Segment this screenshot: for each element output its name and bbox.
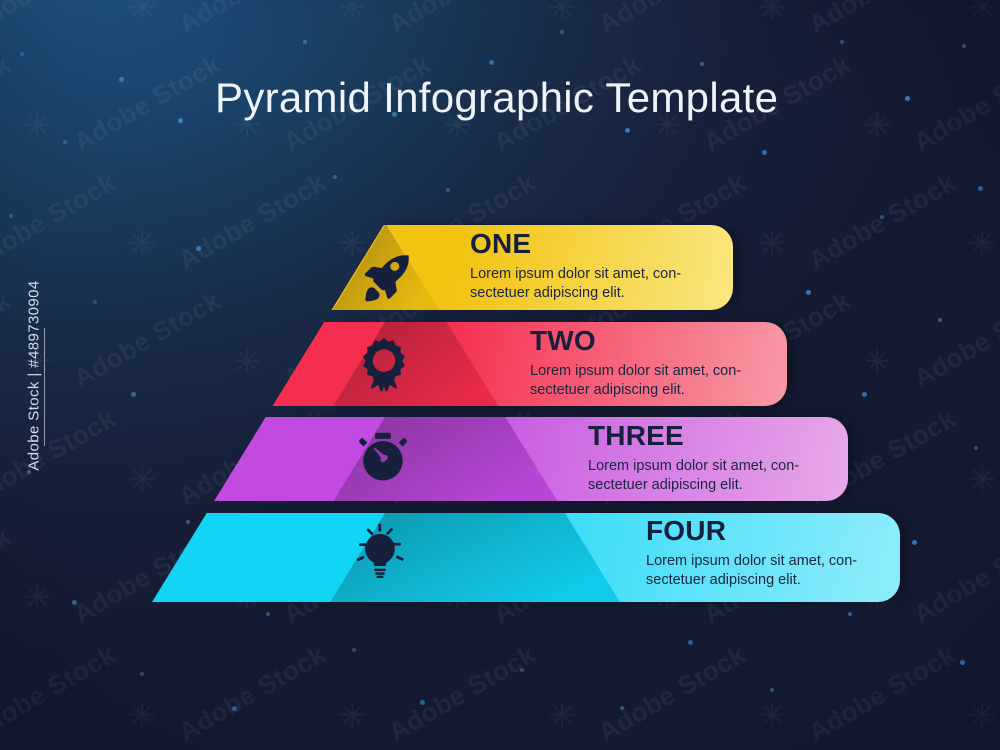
- level-description: Lorem ipsum dolor sit amet, con- sectetu…: [530, 362, 741, 400]
- level-description: Lorem ipsum dolor sit amet, con- sectetu…: [470, 265, 681, 303]
- level-label: ONELorem ipsum dolor sit amet, con- sect…: [470, 230, 681, 303]
- level-title: FOUR: [646, 517, 857, 545]
- level-label: THREELorem ipsum dolor sit amet, con- se…: [588, 422, 799, 495]
- level-triangle-slab: [0, 417, 1000, 501]
- stopwatch-icon: [355, 431, 411, 487]
- level-title: THREE: [588, 422, 799, 450]
- stock-id-divider: [44, 328, 45, 446]
- pyramid-level[interactable]: FOURLorem ipsum dolor sit amet, con- sec…: [0, 513, 1000, 602]
- level-description: Lorem ipsum dolor sit amet, con- sectetu…: [588, 457, 799, 495]
- level-label: TWOLorem ipsum dolor sit amet, con- sect…: [530, 327, 741, 400]
- rocket-icon: [358, 250, 414, 306]
- stock-id-watermark: Adobe Stock | #489730904: [14, 0, 54, 750]
- level-description: Lorem ipsum dolor sit amet, con- sectetu…: [646, 552, 857, 590]
- level-title: ONE: [470, 230, 681, 258]
- stock-id-text: Adobe Stock | #489730904: [26, 280, 43, 470]
- infographic-canvas: Adobe Stock✳Adobe Stock✳Adobe Stock✳Adob…: [0, 0, 1000, 750]
- lightbulb-icon: [352, 523, 408, 579]
- level-label: FOURLorem ipsum dolor sit amet, con- sec…: [646, 517, 857, 590]
- pyramid-level[interactable]: TWOLorem ipsum dolor sit amet, con- sect…: [0, 322, 1000, 406]
- page-title: Pyramid Infographic Template: [215, 74, 778, 122]
- level-triangle-slab: [0, 322, 1000, 406]
- pyramid-level[interactable]: ONELorem ipsum dolor sit amet, con- sect…: [0, 225, 1000, 310]
- level-title: TWO: [530, 327, 741, 355]
- pyramid-level[interactable]: THREELorem ipsum dolor sit amet, con- se…: [0, 417, 1000, 501]
- award-ribbon-icon: [356, 336, 412, 392]
